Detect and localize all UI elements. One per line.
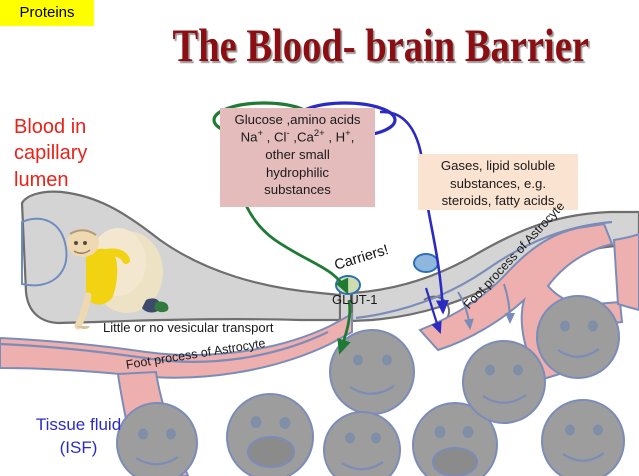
textbox-hydrophilic-substances: Glucose ,amino acids Na+ , Cl- ,Ca2+ , H…: [220, 108, 375, 207]
hydrophilic-line-3: other small: [224, 146, 371, 163]
neuron-cell: [324, 412, 400, 476]
endothelial-cell-left: [22, 192, 340, 323]
hydrophilic-line-5: substances: [224, 181, 371, 198]
hydrophilic-line-2: Na+ , Cl- ,Ca2+ , H+,: [224, 128, 371, 146]
diagram-canvas: The Blood- brain Barrier Blood in capill…: [0, 0, 639, 476]
neuron-cell: [227, 394, 313, 476]
lipid-line-1: Gases, lipid soluble: [421, 157, 575, 175]
label-glut1: GLUT-1: [332, 292, 378, 307]
neuron-cell: [463, 341, 545, 423]
astrocyte-edge-right: [614, 234, 639, 310]
vesicle-oval: [414, 254, 438, 272]
label-tissue-fluid: Tissue fluid (ISF): [16, 414, 141, 460]
hydrophilic-line-1: Glucose ,amino acids: [224, 111, 371, 128]
hydrophilic-line-4: hydrophilic: [224, 164, 371, 181]
lipid-line-2: substances, e.g.: [421, 175, 575, 193]
label-blood-capillary-lumen: Blood in capillary lumen: [14, 114, 134, 193]
page-title: The Blood- brain Barrier: [173, 22, 542, 71]
label-vesicular-transport: Little or no vesicular transport: [103, 320, 274, 335]
neuron-cell: [542, 400, 624, 476]
neuron-cell: [537, 296, 619, 378]
